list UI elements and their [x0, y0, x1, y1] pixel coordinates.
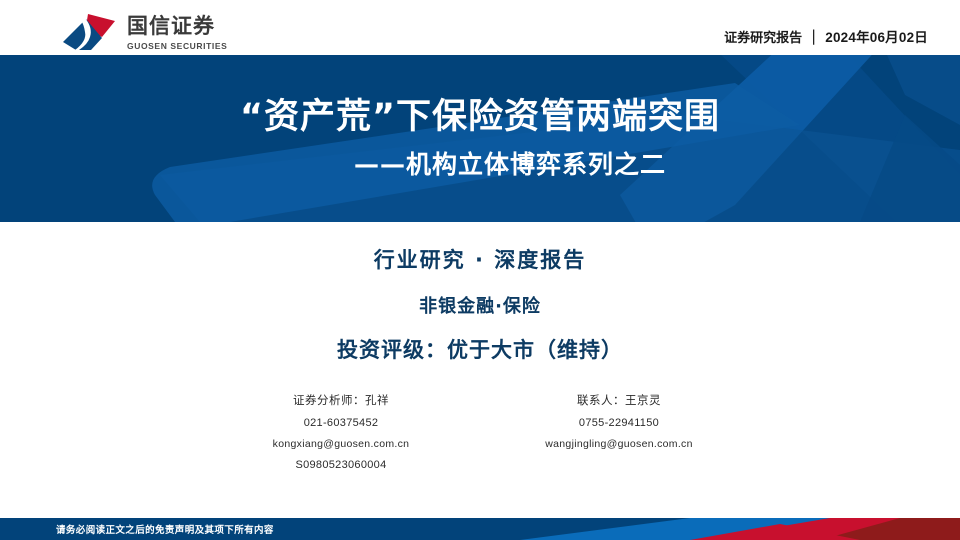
contact-person-column: 联系人：王京灵 0755-22941150 wangjingling@guose… [509, 392, 729, 472]
report-type-label: 证券研究报告 [724, 27, 802, 46]
contact-person-phone: 0755-22941150 [579, 417, 659, 429]
brand-name-cn: 国信证券 [127, 15, 227, 37]
guosen-diamond-logo-icon [58, 11, 120, 53]
contact-person-name: 联系人：王京灵 [577, 392, 661, 408]
page-footer: 请务必阅读正文之后的免责声明及其项下所有内容 [0, 518, 960, 540]
analyst-phone: 021-60375452 [304, 417, 379, 429]
report-meta-block: 行业研究 · 深度报告 非银金融·保险 投资评级：优于大市（维持） [0, 244, 960, 364]
header-divider: | [811, 27, 816, 45]
analyst-email[interactable]: kongxiang@guosen.com.cn [273, 438, 410, 450]
page-header: 国信证券 GUOSEN SECURITIES 证券研究报告 | 2024年06月… [0, 0, 960, 55]
analyst-name: 证券分析师：孔祥 [293, 392, 389, 408]
research-category: 行业研究 · 深度报告 [0, 244, 960, 274]
footer-disclaimer: 请务必阅读正文之后的免责声明及其项下所有内容 [56, 518, 274, 540]
brand-name-en: GUOSEN SECURITIES [127, 41, 227, 51]
header-report-meta: 证券研究报告 | 2024年06月02日 [724, 26, 928, 46]
banner-text-zone: “资产荒”下保险资管两端突围 ——机构立体博弈系列之二 [0, 55, 960, 222]
title-banner: “资产荒”下保险资管两端突围 ——机构立体博弈系列之二 [0, 55, 960, 222]
contact-person-email[interactable]: wangjingling@guosen.com.cn [545, 438, 692, 450]
industry-sector: 非银金融·保险 [0, 292, 960, 318]
brand-logo-text: 国信证券 GUOSEN SECURITIES [127, 13, 227, 50]
analyst-license-number: S0980523060004 [295, 459, 386, 472]
report-date: 2024年06月02日 [825, 26, 928, 46]
analyst-contacts: 证券分析师：孔祥 021-60375452 kongxiang@guosen.c… [0, 392, 960, 472]
report-subtitle: ——机构立体博弈系列之二 [294, 152, 666, 177]
page-body: 行业研究 · 深度报告 非银金融·保险 投资评级：优于大市（维持） 证券分析师：… [0, 222, 960, 512]
analyst-column: 证券分析师：孔祥 021-60375452 kongxiang@guosen.c… [231, 392, 451, 472]
report-title: “资产荒”下保险资管两端突围 [240, 100, 720, 135]
brand-logo: 国信证券 GUOSEN SECURITIES [58, 11, 227, 53]
investment-rating: 投资评级：优于大市（维持） [0, 334, 960, 364]
